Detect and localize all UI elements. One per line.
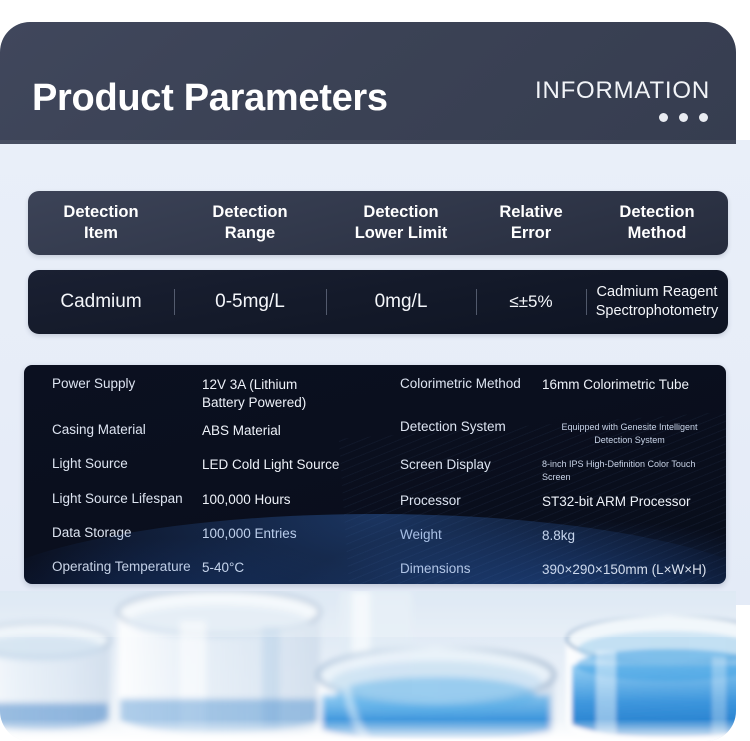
page-title: Product Parameters: [32, 77, 388, 120]
spec-row-light-source: Light Source LED Cold Light Source: [52, 456, 382, 474]
spec-value: Equipped with Genesite Intelligent Detec…: [542, 421, 717, 447]
column-header-line: Detection: [590, 202, 724, 223]
column-header-detection-range: Detection Range: [174, 202, 326, 243]
spec-value-line: Battery Powered): [202, 394, 306, 412]
column-header-detection-method: Detection Method: [586, 202, 728, 243]
decorative-dots: [535, 113, 710, 122]
spec-label: Light Source Lifespan: [52, 491, 198, 506]
column-header-detection-item: Detection Item: [28, 202, 174, 243]
column-header-line: Relative: [480, 202, 582, 223]
product-parameters-page: Product Parameters INFORMATION Detection…: [0, 0, 750, 741]
column-header-detection-lower-limit: Detection Lower Limit: [326, 202, 476, 243]
spec-value: 100,000 Entries: [202, 525, 297, 543]
table-row: Cadmium 0-5mg/L 0mg/L ≤±5% Cadmium Reage…: [28, 270, 728, 334]
spec-value: ABS Material: [202, 422, 281, 440]
cell-detection-method-line: Cadmium Reagent: [588, 283, 726, 302]
spec-row-dimensions: Dimensions 390×290×150mm (L×W×H): [400, 561, 720, 579]
spec-value: 390×290×150mm (L×W×H): [542, 561, 706, 579]
cell-divider: [586, 289, 587, 315]
column-header-line: Detection: [330, 202, 472, 223]
spec-label: Processor: [400, 493, 540, 508]
spec-value: 5-40°C: [202, 559, 244, 577]
spec-label: Detection System: [400, 419, 540, 434]
column-header-line: Range: [178, 223, 322, 244]
cell-detection-item: Cadmium: [28, 291, 174, 314]
dot-icon: [659, 113, 668, 122]
spec-label: Dimensions: [400, 561, 540, 576]
parameters-table-header: Detection Item Detection Range Detection…: [28, 191, 728, 255]
spec-value: 8.8kg: [542, 527, 575, 545]
lab-glassware-photo: [0, 591, 736, 741]
spec-value: ST32-bit ARM Processor: [542, 493, 691, 511]
spec-label: Operating Temperature: [52, 559, 198, 574]
spec-label: Data Storage: [52, 525, 198, 540]
photo-bottom-fade: [0, 719, 736, 741]
spec-row-screen-display: Screen Display 8-inch IPS High-Definitio…: [400, 457, 720, 484]
header-subtitle: INFORMATION: [535, 79, 710, 103]
spec-row-operating-temperature: Operating Temperature 5-40°C: [52, 559, 382, 577]
spec-label: Weight: [400, 527, 540, 542]
cell-detection-lower-limit: 0mg/L: [326, 291, 476, 314]
spec-row-casing-material: Casing Material ABS Material: [52, 422, 382, 440]
column-header-line: Lower Limit: [330, 223, 472, 244]
column-header-line: Method: [590, 223, 724, 244]
spec-row-power-supply: Power Supply 12V 3A (Lithium Battery Pow…: [52, 376, 382, 412]
spec-label: Power Supply: [52, 376, 198, 391]
column-header-relative-error: Relative Error: [476, 202, 586, 243]
cell-relative-error: ≤±5%: [476, 292, 586, 312]
specifications-panel: Power Supply 12V 3A (Lithium Battery Pow…: [24, 365, 726, 584]
specifications-left-column: Power Supply 12V 3A (Lithium Battery Pow…: [52, 365, 382, 584]
header-right-group: INFORMATION: [535, 79, 710, 122]
spec-value: 12V 3A (Lithium Battery Powered): [202, 376, 306, 412]
dot-icon: [679, 113, 688, 122]
spec-label: Colorimetric Method: [400, 376, 540, 391]
spec-value-line: 12V 3A (Lithium: [202, 376, 306, 394]
spec-row-data-storage: Data Storage 100,000 Entries: [52, 525, 382, 543]
spec-row-detection-system: Detection System Equipped with Genesite …: [400, 419, 720, 447]
column-header-line: Detection: [32, 202, 170, 223]
spec-row-colorimetric-method: Colorimetric Method 16mm Colorimetric Tu…: [400, 376, 720, 394]
column-header-line: Error: [480, 223, 582, 244]
column-header-line: Item: [32, 223, 170, 244]
spec-label: Casing Material: [52, 422, 198, 437]
cell-detection-range: 0-5mg/L: [174, 291, 326, 314]
cell-detection-method: Cadmium Reagent Spectrophotometry: [586, 283, 728, 320]
column-header-line: Detection: [178, 202, 322, 223]
cell-divider: [326, 289, 327, 315]
specifications-right-column: Colorimetric Method 16mm Colorimetric Tu…: [400, 365, 720, 584]
cell-detection-method-line: Spectrophotometry: [588, 302, 726, 321]
spec-value: 8-inch IPS High-Definition Color Touch S…: [542, 458, 717, 484]
page-header: Product Parameters INFORMATION: [0, 22, 736, 144]
cell-divider: [174, 289, 175, 315]
dot-icon: [699, 113, 708, 122]
spec-row-light-source-lifespan: Light Source Lifespan 100,000 Hours: [52, 491, 382, 509]
spec-value: LED Cold Light Source: [202, 456, 339, 474]
spec-row-processor: Processor ST32-bit ARM Processor: [400, 493, 720, 511]
spec-label: Light Source: [52, 456, 198, 471]
cell-divider: [476, 289, 477, 315]
spec-row-weight: Weight 8.8kg: [400, 527, 720, 545]
spec-value: 16mm Colorimetric Tube: [542, 376, 689, 394]
spec-label: Screen Display: [400, 457, 540, 472]
spec-value: 100,000 Hours: [202, 491, 291, 509]
